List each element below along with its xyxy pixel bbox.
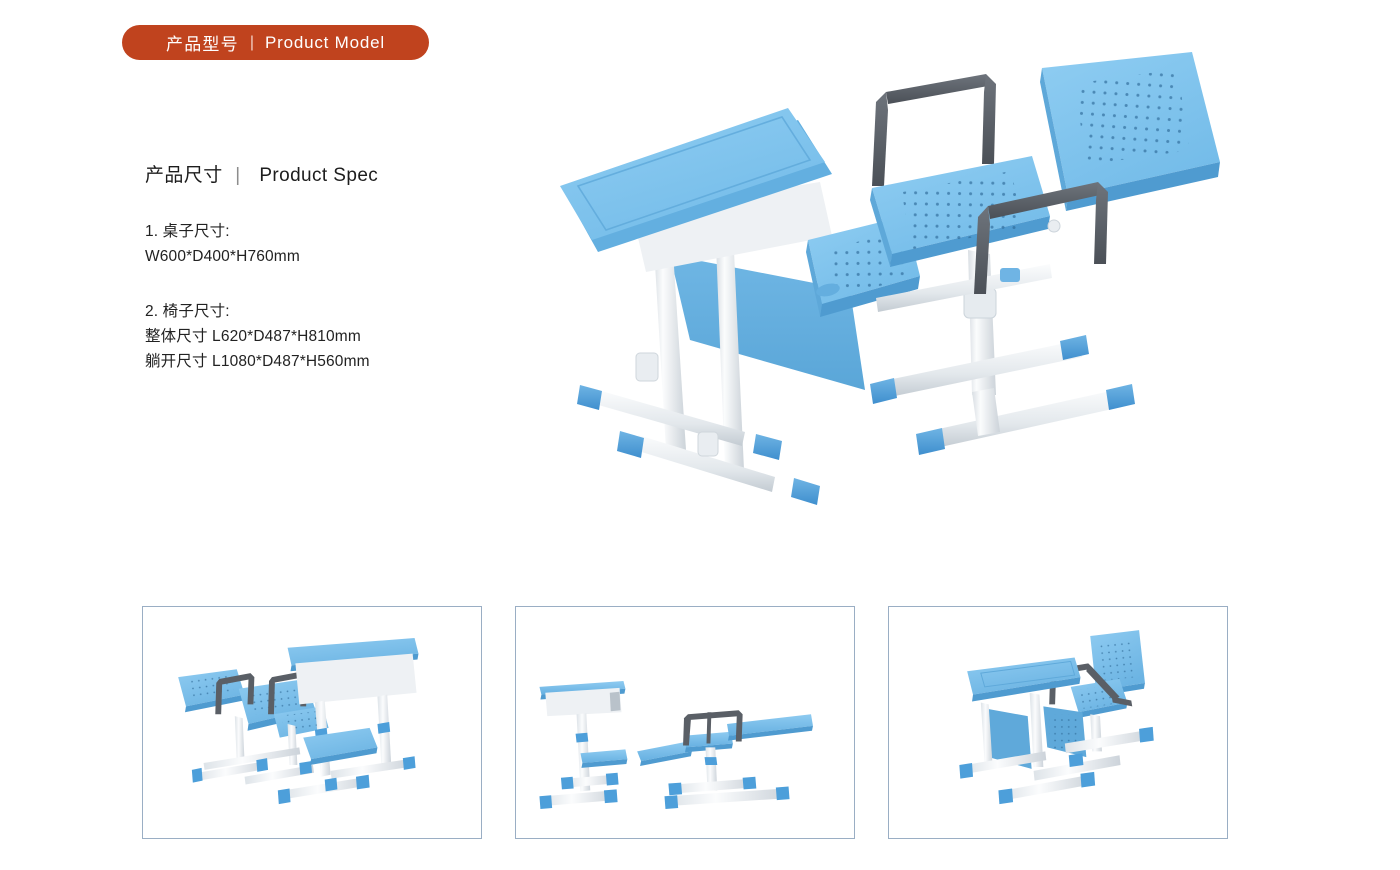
chair-group [870, 52, 1220, 455]
spec-line-value: W600*D400*H760mm [145, 244, 475, 269]
badge-label-en: Product Model [265, 33, 385, 53]
product-model-badge: 产品型号 | Product Model [122, 25, 429, 60]
badge-label-cn: 产品型号 [166, 30, 239, 55]
product-spec-block: 产品尺寸 | Product Spec 1. 桌子尺寸: W600*D400*H… [145, 160, 475, 375]
badge-separator: | [250, 34, 254, 52]
thumbnail-set-angle-view[interactable] [142, 606, 482, 839]
hero-product-image [520, 40, 1280, 510]
spec-line-value: 躺开尺寸 L1080*D487*H560mm [145, 349, 475, 374]
spec-group-title: 1. 桌子尺寸: [145, 219, 475, 244]
spec-line-value: 整体尺寸 L620*D487*H810mm [145, 324, 475, 349]
spec-heading: 产品尺寸 | Product Spec [145, 160, 475, 187]
chair-backrest [1040, 52, 1220, 211]
thumbnail-side-profile-view[interactable] [515, 606, 855, 839]
spec-group-title: 2. 椅子尺寸: [145, 299, 475, 324]
thumbnail-strip [142, 606, 1228, 839]
thumbnail-upright-chair-view[interactable] [888, 606, 1228, 839]
spec-group-chair: 2. 椅子尺寸: 整体尺寸 L620*D487*H810mm 躺开尺寸 L108… [145, 299, 475, 374]
spec-heading-cn: 产品尺寸 [145, 165, 223, 186]
spec-heading-separator: | [235, 165, 240, 186]
spec-group-desk: 1. 桌子尺寸: W600*D400*H760mm [145, 219, 475, 269]
spec-heading-en: Product Spec [259, 165, 378, 186]
